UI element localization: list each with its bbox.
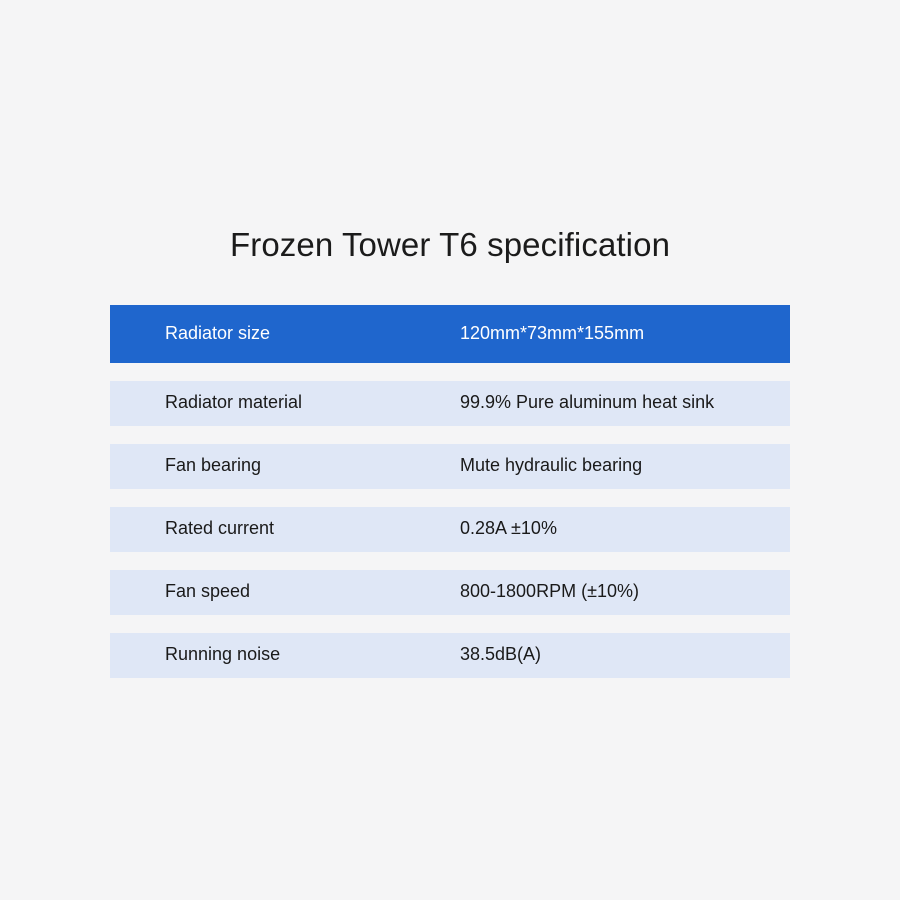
table-row: Running noise 38.5dB(A)	[110, 633, 790, 678]
spec-value: Mute hydraulic bearing	[460, 455, 790, 477]
spec-page: Frozen Tower T6 specification Radiator s…	[0, 0, 900, 900]
spec-value: 99.9% Pure aluminum heat sink	[460, 392, 790, 414]
table-row: Rated current 0.28A ±10%	[110, 507, 790, 552]
spec-label: Rated current	[165, 518, 460, 540]
spec-label: Radiator size	[165, 323, 460, 345]
spec-value: 120mm*73mm*155mm	[460, 323, 790, 345]
table-row: Radiator size 120mm*73mm*155mm	[110, 305, 790, 363]
spec-value: 38.5dB(A)	[460, 644, 790, 666]
specification-table: Radiator size 120mm*73mm*155mm Radiator …	[110, 305, 790, 678]
page-title: Frozen Tower T6 specification	[110, 225, 790, 265]
spec-label: Radiator material	[165, 392, 460, 414]
spec-value: 800-1800RPM (±10%)	[460, 581, 790, 603]
specification-block: Frozen Tower T6 specification Radiator s…	[110, 225, 790, 678]
table-row: Fan bearing Mute hydraulic bearing	[110, 444, 790, 489]
spec-label: Fan bearing	[165, 455, 460, 477]
spec-label: Running noise	[165, 644, 460, 666]
table-row: Fan speed 800-1800RPM (±10%)	[110, 570, 790, 615]
table-row: Radiator material 99.9% Pure aluminum he…	[110, 381, 790, 426]
spec-label: Fan speed	[165, 581, 460, 603]
spec-value: 0.28A ±10%	[460, 518, 790, 540]
